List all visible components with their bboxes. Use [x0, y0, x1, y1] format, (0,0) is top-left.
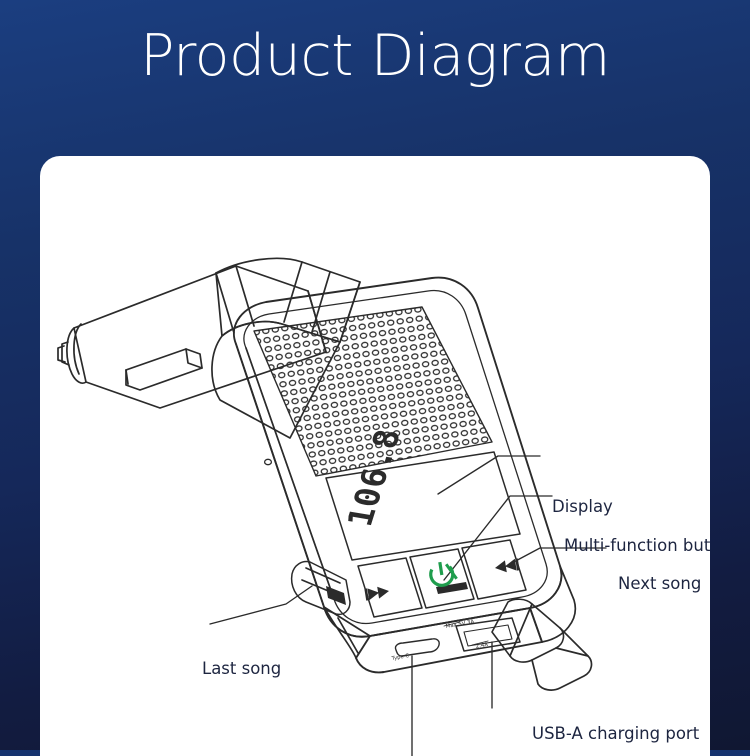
usb-a-current-label: 2.4A	[475, 642, 488, 650]
button-glyph-group	[364, 558, 519, 600]
callout-label-multi-function-button: Multi-function button	[564, 536, 710, 556]
product-line-art: 106.8	[40, 156, 710, 756]
page-title: Product Diagram	[0, 18, 750, 94]
callout-label-next-song: Next song	[618, 574, 701, 594]
type-c-micro-label: Type-C	[390, 653, 410, 662]
callout-leaders	[210, 456, 606, 756]
button-row-group	[358, 540, 526, 617]
power-icon	[429, 560, 457, 587]
callout-label-last-song: Last song	[202, 659, 281, 679]
usb-a-spec-label: Max 5V 3A	[445, 619, 475, 630]
page-root: Product Diagram	[0, 0, 750, 750]
leader-display	[438, 456, 540, 494]
callout-label-usb-a-charging-port: USB-A charging port	[532, 724, 699, 744]
callout-label-display: Display	[552, 497, 613, 517]
side-button-group	[292, 562, 350, 615]
diagram-card: 106.8	[40, 156, 710, 756]
leader-last	[210, 586, 312, 624]
